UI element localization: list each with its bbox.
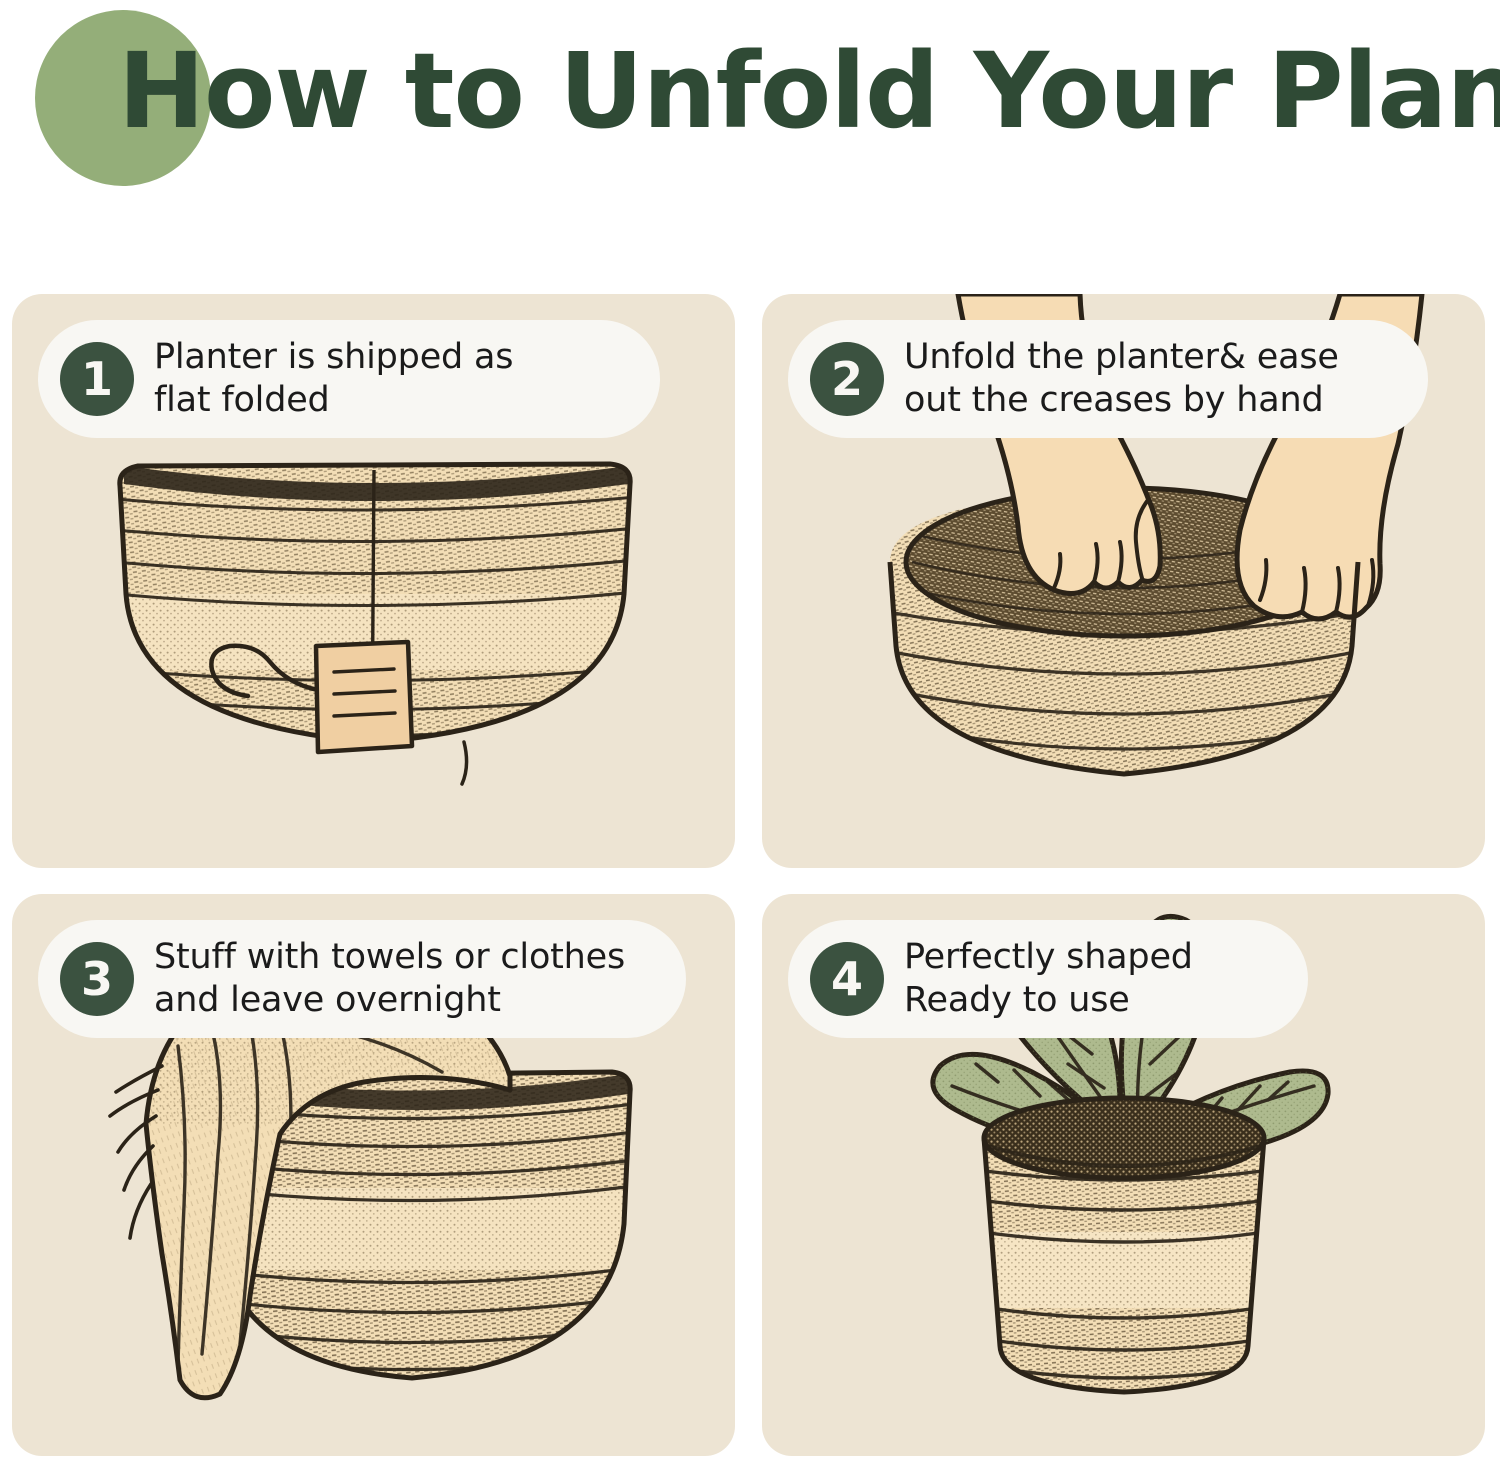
step-number-badge-2: 2 — [810, 342, 884, 416]
step-card-4: 4 Perfectly shaped Ready to use — [762, 894, 1485, 1456]
step-text-4: Perfectly shaped Ready to use — [904, 936, 1193, 1022]
step-label-1: 1 Planter is shipped as flat folded — [38, 320, 660, 438]
step-label-2: 2 Unfold the planter& ease out the creas… — [788, 320, 1428, 438]
step-label-4: 4 Perfectly shaped Ready to use — [788, 920, 1308, 1038]
step-number-badge-1: 1 — [60, 342, 134, 416]
page-header: How to Unfold Your Planter — [0, 0, 1500, 270]
step-label-3: 3 Stuff with towels or clothes and leave… — [38, 920, 686, 1038]
step-text-2: Unfold the planter& ease out the creases… — [904, 336, 1339, 422]
step-text-3: Stuff with towels or clothes and leave o… — [154, 936, 625, 1022]
step-number-badge-3: 3 — [60, 942, 134, 1016]
step-text-1: Planter is shipped as flat folded — [154, 336, 513, 422]
steps-grid: 1 Planter is shipped as flat folded — [12, 294, 1488, 1450]
step-card-1: 1 Planter is shipped as flat folded — [12, 294, 735, 868]
step-card-2: 2 Unfold the planter& ease out the creas… — [762, 294, 1485, 868]
step-card-3: 3 Stuff with towels or clothes and leave… — [12, 894, 735, 1456]
page-title: How to Unfold Your Planter — [118, 32, 1500, 150]
step-number-badge-4: 4 — [810, 942, 884, 1016]
